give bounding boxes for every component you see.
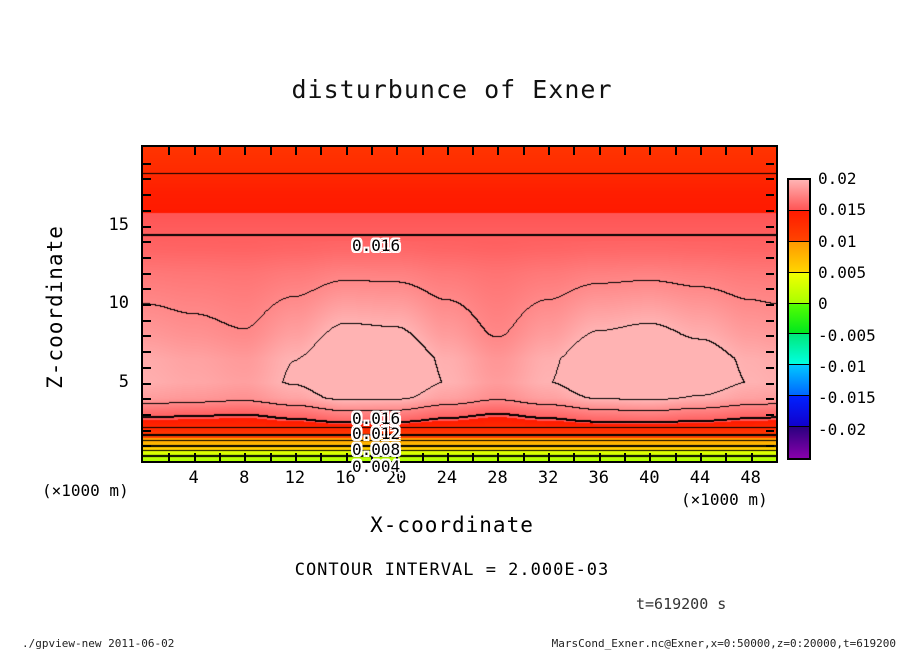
y-tick-right [766, 226, 774, 228]
x-tick-label: 8 [224, 468, 264, 488]
y-tick-right [766, 163, 774, 165]
colorbar [787, 178, 811, 460]
x-tick-top [447, 147, 449, 155]
x-tick-label: 28 [477, 468, 517, 488]
x-tick-top [320, 147, 322, 155]
y-tick-right [766, 194, 774, 196]
x-tick-label: 48 [731, 468, 771, 488]
x-tick-top [244, 147, 246, 155]
y-tick [143, 163, 151, 165]
contour-label: 0.016 [352, 236, 400, 255]
x-tick [573, 453, 575, 461]
x-tick-top [295, 147, 297, 155]
y-tick-right [766, 257, 774, 259]
footer-source: MarsCond_Exner.nc@Exner,x=0:50000,z=0:20… [552, 637, 896, 650]
y-tick-right [766, 367, 774, 369]
colorbar-band [789, 211, 809, 242]
x-tick-label: 36 [579, 468, 619, 488]
x-axis-unit: (×1000 m) [681, 490, 768, 509]
x-tick [447, 453, 449, 461]
x-tick [472, 453, 474, 461]
y-tick-label: 10 [95, 293, 129, 313]
y-tick [143, 241, 151, 243]
x-tick [725, 453, 727, 461]
x-tick [346, 453, 348, 461]
y-tick-right [766, 288, 774, 290]
y-tick-right [766, 210, 774, 212]
x-tick [270, 453, 272, 461]
x-tick [497, 453, 499, 461]
y-tick-right [766, 414, 774, 416]
y-tick [143, 178, 151, 180]
y-tick-right [766, 335, 774, 337]
x-tick-top [346, 147, 348, 155]
y-tick [143, 210, 151, 212]
y-tick-right [766, 320, 774, 322]
x-tick-top [168, 147, 170, 155]
y-tick [143, 320, 151, 322]
x-tick [624, 453, 626, 461]
colorbar-label: -0.02 [818, 420, 866, 439]
y-tick-right [766, 273, 774, 275]
y-axis-title: Z-coordinate [43, 197, 67, 417]
contour-canvas [143, 147, 776, 461]
colorbar-label: -0.005 [818, 326, 876, 345]
x-tick [168, 453, 170, 461]
x-tick-top [675, 147, 677, 155]
y-tick-right [766, 383, 774, 385]
x-tick-label: 32 [528, 468, 568, 488]
colorbar-band [789, 180, 809, 211]
x-tick-top [725, 147, 727, 155]
x-tick-top [700, 147, 702, 155]
x-tick-top [422, 147, 424, 155]
x-tick [320, 453, 322, 461]
x-tick [649, 453, 651, 461]
x-tick-top [523, 147, 525, 155]
x-tick-label: 12 [275, 468, 315, 488]
y-tick-right [766, 351, 774, 353]
x-tick-top [371, 147, 373, 155]
colorbar-label: 0.02 [818, 169, 857, 188]
colorbar-label: 0.01 [818, 232, 857, 251]
x-tick-label: 44 [680, 468, 720, 488]
x-tick-top [573, 147, 575, 155]
footer-command: ./gpview-new 2011-06-02 [22, 637, 174, 650]
x-tick-top [624, 147, 626, 155]
x-tick [422, 453, 424, 461]
x-tick-top [751, 147, 753, 155]
x-tick [219, 453, 221, 461]
y-axis-unit: (×1000 m) [42, 481, 129, 500]
colorbar-label: -0.01 [818, 357, 866, 376]
colorbar-label: 0 [818, 294, 828, 313]
x-tick-top [497, 147, 499, 155]
contour-plot [141, 145, 778, 463]
x-tick [194, 453, 196, 461]
y-tick [143, 414, 151, 416]
y-tick [143, 367, 151, 369]
y-tick [143, 273, 151, 275]
colorbar-band [789, 304, 809, 335]
y-tick-label: 15 [95, 215, 129, 235]
colorbar-band [789, 242, 809, 273]
y-tick-label: 5 [95, 372, 129, 392]
y-tick [143, 288, 151, 290]
colorbar-band [789, 427, 809, 458]
x-tick-label: 40 [629, 468, 669, 488]
x-tick-label: 4 [174, 468, 214, 488]
y-tick [143, 335, 151, 337]
y-tick-right [766, 430, 774, 432]
y-tick-right [766, 304, 774, 306]
colorbar-band [789, 365, 809, 396]
colorbar-band [789, 334, 809, 365]
colorbar-band [789, 273, 809, 304]
x-tick [244, 453, 246, 461]
y-tick-right [766, 178, 774, 180]
y-tick [143, 194, 151, 196]
x-tick-top [472, 147, 474, 155]
y-tick [143, 430, 151, 432]
y-tick [143, 304, 151, 306]
x-axis-title: X-coordinate [0, 513, 904, 537]
x-tick [700, 453, 702, 461]
y-tick [143, 398, 151, 400]
x-tick-label: 24 [427, 468, 467, 488]
y-tick [143, 383, 151, 385]
x-tick-top [396, 147, 398, 155]
x-tick [523, 453, 525, 461]
x-tick-top [649, 147, 651, 155]
colorbar-label: 0.015 [818, 200, 866, 219]
x-tick [675, 453, 677, 461]
y-tick [143, 351, 151, 353]
x-tick [599, 453, 601, 461]
contour-label: 0.004 [352, 457, 400, 476]
colorbar-label: 0.005 [818, 263, 866, 282]
x-tick-top [270, 147, 272, 155]
x-tick-top [599, 147, 601, 155]
x-tick [548, 453, 550, 461]
y-tick-right [766, 241, 774, 243]
x-tick-top [219, 147, 221, 155]
x-tick-top [194, 147, 196, 155]
y-tick [143, 257, 151, 259]
time-text: t=619200 s [636, 595, 726, 613]
colorbar-label: -0.015 [818, 388, 876, 407]
y-tick-right [766, 445, 774, 447]
chart-title: disturbunce of Exner [0, 75, 904, 104]
x-tick [295, 453, 297, 461]
x-tick-top [548, 147, 550, 155]
x-tick [751, 453, 753, 461]
y-tick-right [766, 398, 774, 400]
contour-interval-text: CONTOUR INTERVAL = 2.000E-03 [0, 560, 904, 580]
y-tick [143, 226, 151, 228]
colorbar-band [789, 396, 809, 427]
y-tick [143, 445, 151, 447]
